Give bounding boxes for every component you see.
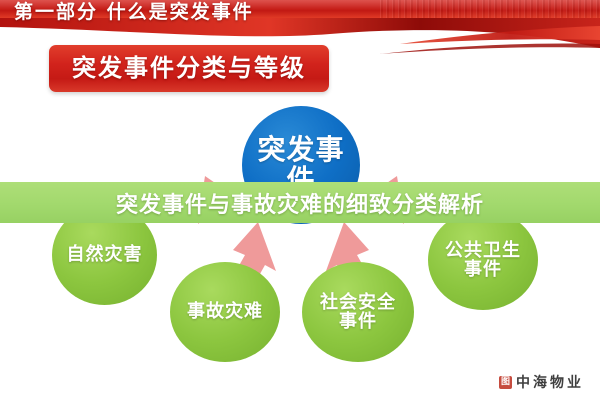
diagram-node-accident-label: 事故灾难 bbox=[179, 302, 271, 321]
diagram-node-accident: 事故灾难 bbox=[170, 262, 280, 362]
diagram-node-health: 公共卫生事件 bbox=[428, 210, 538, 310]
diagram-node-health-label: 公共卫生事件 bbox=[437, 241, 529, 280]
watermark-text: 中海物业 bbox=[516, 372, 584, 392]
diagram-node-social: 社会安全事件 bbox=[302, 262, 414, 362]
diagram-node-nature-label: 自然灾害 bbox=[60, 245, 148, 264]
caption-overlay-text: 突发事件与事故灾难的细致分类解析 bbox=[116, 187, 484, 219]
caption-overlay-banner: 突发事件与事故灾难的细致分类解析 bbox=[0, 182, 600, 223]
slide-title-text: 突发事件分类与等级 bbox=[49, 45, 329, 92]
watermark: 图 中海物业 bbox=[499, 372, 584, 392]
section-header-title: 第一部分 什么是突发事件 bbox=[14, 0, 254, 24]
diagram-node-social-label: 社会安全事件 bbox=[311, 293, 405, 332]
presentation-slide: 第一部分 什么是突发事件 突发事件分类与 bbox=[0, 0, 600, 400]
slide-title-plate: 突发事件分类与等级 bbox=[49, 45, 329, 92]
watermark-logo-icon: 图 bbox=[499, 376, 512, 389]
